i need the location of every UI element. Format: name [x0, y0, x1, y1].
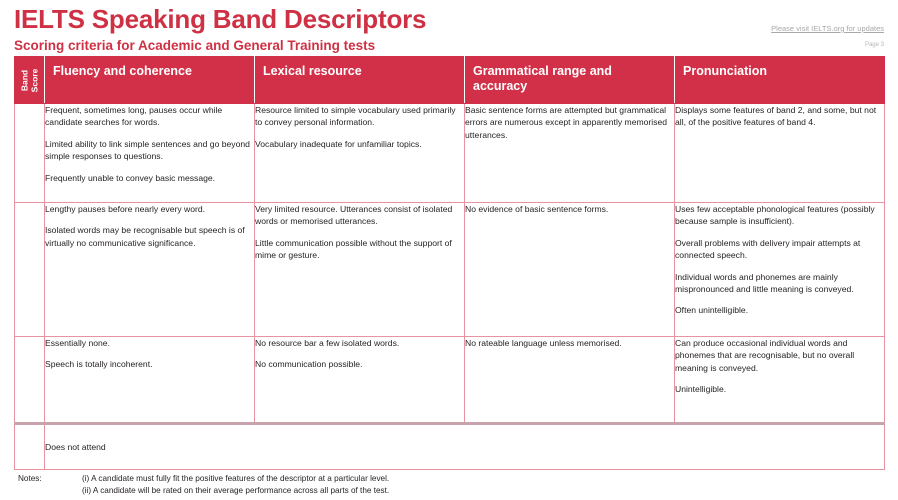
notes-body: (i) A candidate must fully fit the posit… — [82, 473, 878, 496]
cell-pronunciation-3: Displays some features of band 2, and so… — [675, 104, 885, 203]
column-header-pronunciation: Pronunciation — [675, 57, 885, 104]
band-score-0: 0 — [15, 424, 45, 470]
cell-grammar-2: No evidence of basic sentence forms. — [465, 203, 675, 337]
descriptor-paragraph: Little communication possible without th… — [255, 237, 464, 262]
descriptor-paragraph: Frequently unable to convey basic messag… — [45, 172, 254, 184]
column-header-lexical: Lexical resource — [255, 57, 465, 104]
band-score-3: 3 — [15, 104, 45, 203]
cell-fluency-1: Essentially none.Speech is totally incoh… — [45, 337, 255, 424]
descriptor-paragraph: Isolated words may be recognisable but s… — [45, 224, 254, 249]
descriptor-paragraph: No resource bar a few isolated words. — [255, 337, 464, 349]
table-row: 3 Frequent, sometimes long, pauses occur… — [15, 104, 885, 203]
note-item: (i) A candidate must fully fit the posit… — [82, 473, 878, 485]
cell-pronunciation-2: Uses few acceptable phonological feature… — [675, 203, 885, 337]
page-number: Page 3 — [771, 42, 884, 48]
column-header-fluency: Fluency and coherence — [45, 57, 255, 104]
table-row: 2 Lengthy pauses before nearly every wor… — [15, 203, 885, 337]
descriptor-paragraph: Frequent, sometimes long, pauses occur w… — [45, 104, 254, 129]
band-score-header-line2: Score — [29, 68, 39, 92]
descriptor-paragraph: Essentially none. — [45, 337, 254, 349]
descriptor-paragraph: No evidence of basic sentence forms. — [465, 203, 674, 215]
table-header-row: Band Score Fluency and coherence Lexical… — [15, 57, 885, 104]
descriptor-paragraph: Limited ability to link simple sentences… — [45, 138, 254, 163]
descriptor-paragraph: Uses few acceptable phonological feature… — [675, 203, 884, 228]
descriptor-paragraph: Does not attend — [45, 441, 884, 453]
descriptor-paragraph: Often unintelligible. — [675, 304, 884, 316]
descriptor-paragraph: No rateable language unless memorised. — [465, 337, 674, 349]
descriptor-paragraph: No communication possible. — [255, 358, 464, 370]
table-row: 1 Essentially none.Speech is totally inc… — [15, 337, 885, 424]
descriptor-paragraph: Vocabulary inadequate for unfamiliar top… — [255, 138, 464, 150]
descriptor-paragraph: Individual words and phonemes are mainly… — [675, 271, 884, 296]
page-title: IELTS Speaking Band Descriptors — [14, 4, 426, 34]
cell-lexical-1: No resource bar a few isolated words.No … — [255, 337, 465, 424]
document-header: IELTS Speaking Band Descriptors Scoring … — [14, 4, 426, 54]
cell-fluency-3: Frequent, sometimes long, pauses occur w… — [45, 104, 255, 203]
document-page: IELTS Speaking Band Descriptors Scoring … — [0, 0, 898, 500]
note-item: (ii) A candidate will be rated on their … — [82, 485, 878, 497]
page-subtitle: Scoring criteria for Academic and Genera… — [14, 37, 426, 54]
footer-notes: Notes: (i) A candidate must fully fit th… — [18, 473, 878, 496]
band-score-header-rotated: Band Score — [15, 57, 45, 103]
cell-fluency-2: Lengthy pauses before nearly every word.… — [45, 203, 255, 337]
descriptor-paragraph: Basic sentence forms are attempted but g… — [465, 104, 674, 141]
cell-lexical-2: Very limited resource. Utterances consis… — [255, 203, 465, 337]
cell-grammar-3: Basic sentence forms are attempted but g… — [465, 104, 675, 203]
cell-grammar-1: No rateable language unless memorised. — [465, 337, 675, 424]
descriptor-paragraph: Unintelligible. — [675, 383, 884, 395]
cell-does-not-attend: Does not attend — [45, 424, 885, 470]
header-meta: Please visit IELTS.org for updates Page … — [771, 24, 884, 48]
descriptor-paragraph: Very limited resource. Utterances consis… — [255, 203, 464, 228]
cell-lexical-3: Resource limited to simple vocabulary us… — [255, 104, 465, 203]
descriptor-paragraph: Displays some features of band 2, and so… — [675, 104, 884, 129]
descriptor-paragraph: Overall problems with delivery impair at… — [675, 237, 884, 262]
notes-label: Notes: — [18, 473, 42, 485]
ielts-org-link[interactable]: Please visit IELTS.org for updates — [771, 24, 884, 33]
descriptor-paragraph: Can produce occasional individual words … — [675, 337, 884, 374]
column-header-grammar: Grammatical range and accuracy — [465, 57, 675, 104]
band-score-1: 1 — [15, 337, 45, 424]
descriptor-paragraph: Lengthy pauses before nearly every word. — [45, 203, 254, 215]
descriptor-paragraph: Speech is totally incoherent. — [45, 358, 254, 370]
cell-pronunciation-1: Can produce occasional individual words … — [675, 337, 885, 424]
band-descriptors-table: Band Score Fluency and coherence Lexical… — [14, 56, 885, 470]
band-score-header: Band Score — [15, 57, 45, 104]
band-score-2: 2 — [15, 203, 45, 337]
table-row: 0 Does not attend — [15, 424, 885, 470]
descriptor-paragraph: Resource limited to simple vocabulary us… — [255, 104, 464, 129]
